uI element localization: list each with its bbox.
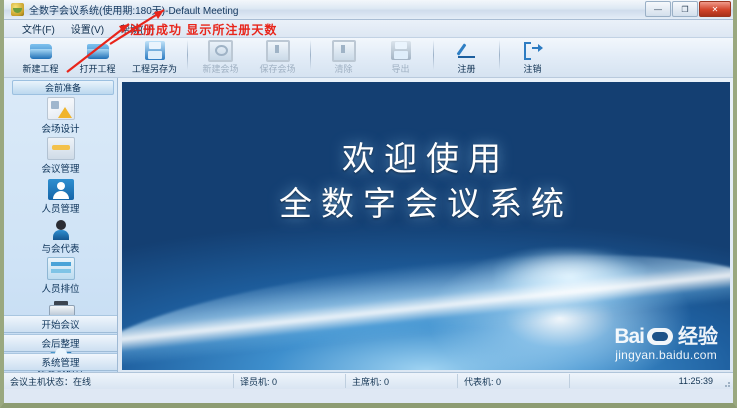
toolbar-separator	[187, 40, 188, 70]
sidebar-system-manage[interactable]: 系统管理	[4, 353, 117, 371]
save-venue-icon	[266, 40, 290, 61]
toolbar: 新建工程 打开工程 工程另存为 新建会场 保存会场 清除 导出	[4, 38, 733, 78]
sidebar-item-seating-label: 人员排位	[41, 281, 79, 295]
venue-design-icon	[47, 98, 75, 120]
status-host: 会议主机状态：在线	[4, 374, 234, 388]
toolbar-save-as[interactable]: 工程另存为	[126, 38, 183, 76]
sidebar-item-seating[interactable]: 人员排位	[4, 258, 117, 295]
status-interpreter-count: 译员机: 0	[234, 374, 346, 388]
application-window: 全数字会议系统(使用期:180天)-Default Meeting — ❐ ✕ …	[0, 0, 737, 408]
toolbar-new-venue-label: 新建会场	[202, 62, 238, 75]
sidebar-item-meeting-manage-label: 会议管理	[41, 161, 79, 175]
window-title: 全数字会议系统(使用期:180天)-Default Meeting	[29, 2, 239, 17]
meeting-manage-icon	[47, 138, 75, 160]
toolbar-logout-label: 注销	[523, 62, 541, 75]
menu-settings[interactable]: 设置(V)	[71, 21, 104, 36]
sidebar: 会前准备 会场设计 会议管理 人员管理 与会代表	[4, 78, 118, 372]
sidebar-item-delegate[interactable]: 与会代表	[4, 218, 117, 255]
sidebar-item-venue-design[interactable]: 会场设计	[4, 98, 117, 135]
resize-grip-icon[interactable]	[721, 375, 733, 387]
sidebar-item-delegate-label: 与会代表	[41, 241, 79, 255]
watermark-url: jingyan.baidu.com	[614, 348, 718, 362]
toolbar-separator	[499, 40, 500, 70]
welcome-stage: 欢迎使用 全数字会议系统 Bai 经验 jingyan.baidu.com	[122, 82, 730, 370]
menu-bar: 文件(F) 设置(V) 帮助(H) 注册成功 显示所注册天数	[4, 20, 733, 38]
maximize-button[interactable]: ❐	[672, 1, 698, 17]
close-button[interactable]: ✕	[699, 1, 731, 17]
sidebar-bottom-buttons: 开始会议 会后整理 系统管理	[4, 315, 117, 372]
sidebar-item-venue-design-label: 会场设计	[41, 121, 79, 135]
register-pen-icon	[457, 40, 477, 61]
welcome-text: 欢迎使用 全数字会议系统	[122, 140, 730, 231]
watermark-suffix-text: 经验	[678, 327, 718, 347]
new-venue-icon	[208, 40, 233, 61]
toolbar-new-project-label: 新建工程	[22, 62, 58, 75]
delegate-icon	[48, 218, 74, 240]
title-bar: 全数字会议系统(使用期:180天)-Default Meeting — ❐ ✕	[4, 0, 733, 20]
main-panel: 欢迎使用 全数字会议系统 Bai 经验 jingyan.baidu.com	[118, 78, 733, 372]
baidu-paw-icon	[647, 328, 673, 345]
toolbar-export-label: 导出	[391, 62, 409, 75]
sidebar-section-header: 会前准备	[12, 80, 114, 95]
toolbar-save-as-label: 工程另存为	[132, 62, 177, 75]
personnel-manage-icon	[48, 178, 74, 200]
baidu-jingyan-watermark: Bai 经验 jingyan.baidu.com	[614, 326, 718, 362]
new-project-icon	[30, 40, 52, 61]
registration-annotation: 注册成功 显示所注册天数	[130, 21, 277, 38]
status-delegate-count: 代表机: 0	[458, 374, 570, 388]
seating-icon	[47, 258, 75, 280]
meeting-app-icon	[11, 3, 24, 16]
toolbar-register[interactable]: 注册	[438, 38, 495, 76]
sidebar-item-personnel-manage[interactable]: 人员管理	[4, 178, 117, 215]
welcome-line-2: 全数字会议系统	[122, 181, 730, 231]
toolbar-open-project-label: 打开工程	[79, 62, 115, 75]
export-icon	[391, 40, 411, 61]
welcome-line-1: 欢迎使用	[122, 140, 730, 181]
toolbar-logout[interactable]: 注销	[504, 38, 561, 76]
sidebar-item-personnel-manage-label: 人员管理	[41, 201, 79, 215]
sidebar-item-meeting-manage[interactable]: 会议管理	[4, 138, 117, 175]
toolbar-export: 导出	[372, 38, 429, 76]
toolbar-save-venue-label: 保存会场	[259, 62, 295, 75]
toolbar-save-venue: 保存会场	[249, 38, 306, 76]
toolbar-open-project[interactable]: 打开工程	[69, 38, 126, 76]
status-chairman-count: 主席机: 0	[346, 374, 458, 388]
status-bar: 会议主机状态：在线 译员机: 0 主席机: 0 代表机: 0 11:25:39	[4, 372, 733, 389]
toolbar-new-project[interactable]: 新建工程	[12, 38, 69, 76]
status-clock: 11:25:39	[647, 374, 719, 388]
toolbar-separator	[433, 40, 434, 70]
menu-file[interactable]: 文件(F)	[22, 21, 55, 36]
content-area: 会前准备 会场设计 会议管理 人员管理 与会代表	[4, 78, 733, 372]
toolbar-new-venue: 新建会场	[192, 38, 249, 76]
save-as-icon	[145, 40, 165, 61]
toolbar-separator	[310, 40, 311, 70]
minimize-button[interactable]: —	[645, 1, 671, 17]
sidebar-start-meeting[interactable]: 开始会议	[4, 315, 117, 333]
toolbar-register-label: 注册	[457, 62, 475, 75]
logout-icon	[524, 40, 542, 61]
window-controls: — ❐ ✕	[645, 1, 731, 17]
open-project-icon	[87, 40, 109, 61]
watermark-brand-text: Bai	[614, 326, 644, 347]
toolbar-clear: 清除	[315, 38, 372, 76]
toolbar-clear-label: 清除	[334, 62, 352, 75]
clear-icon	[332, 40, 356, 61]
